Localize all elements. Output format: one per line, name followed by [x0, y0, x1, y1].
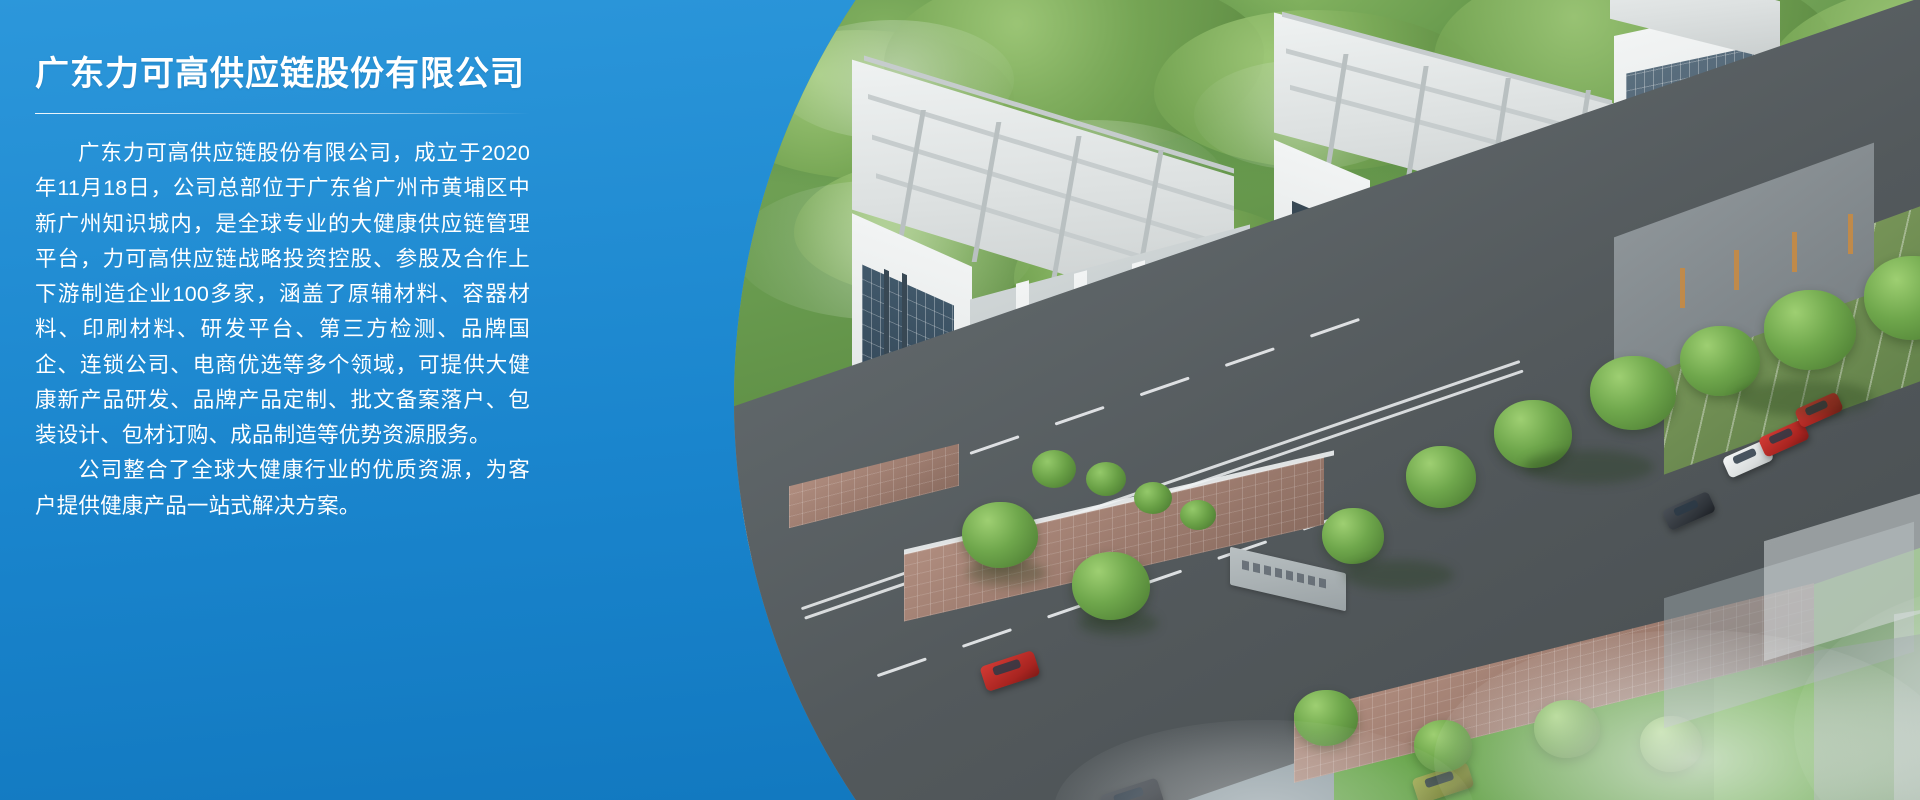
banner-stage: 广东力可高供应链股份有限公司 广东力可高供应链股份有限公司，成立于2020年11… [0, 0, 1920, 800]
campus-tree [1764, 290, 1856, 370]
campus-photo-scene [734, 0, 1920, 800]
light-pole [1680, 268, 1685, 308]
tree-shadow [1344, 560, 1454, 590]
campus-tree [1322, 508, 1384, 564]
campus-tree [1590, 356, 1676, 430]
shrub [1086, 462, 1126, 496]
intro-body: 广东力可高供应链股份有限公司，成立于2020年11月18日，公司总部位于广东省广… [35, 136, 530, 524]
campus-tree [1406, 446, 1476, 508]
shrub [1180, 500, 1216, 530]
light-pole [1848, 214, 1853, 254]
light-pole [1734, 250, 1739, 290]
intro-paragraph-1: 广东力可高供应链股份有限公司，成立于2020年11月18日，公司总部位于广东省广… [35, 136, 530, 453]
page-title: 广东力可高供应链股份有限公司 [35, 52, 530, 96]
tree-shadow [1524, 450, 1654, 484]
campus-tree [1680, 326, 1760, 396]
street-tree [962, 502, 1038, 568]
shrub [1032, 450, 1076, 488]
tree-shadow [1734, 380, 1874, 416]
company-intro-panel: 广东力可高供应链股份有限公司 广东力可高供应链股份有限公司，成立于2020年11… [0, 0, 560, 800]
campus-photo [734, 0, 1920, 800]
shrub [1134, 482, 1172, 514]
light-pole [1792, 232, 1797, 272]
title-divider [35, 113, 530, 114]
street-tree [1072, 552, 1150, 620]
intro-paragraph-2: 公司整合了全球大健康行业的优质资源，为客户提供健康产品一站式解决方案。 [35, 453, 530, 524]
